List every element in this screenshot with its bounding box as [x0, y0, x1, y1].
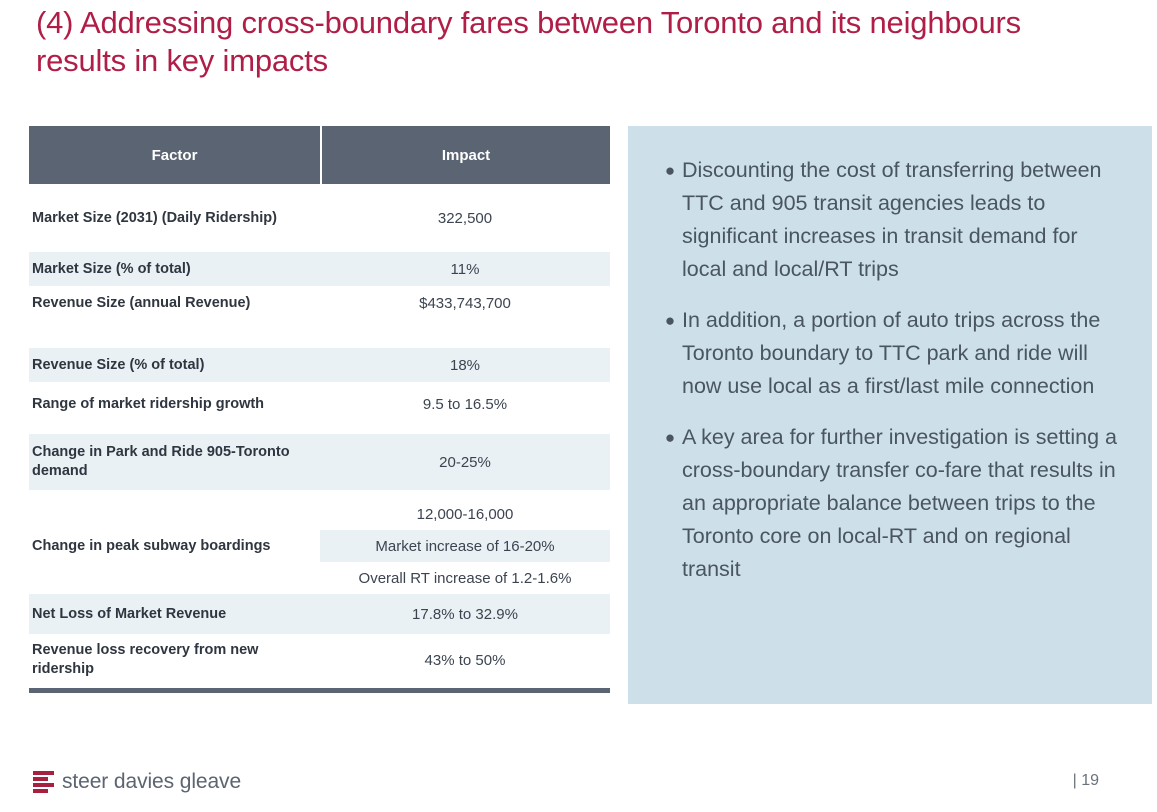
table-row: Change in Park and Ride 905-Toronto dema…: [29, 434, 610, 490]
brand-logo: steer davies gleave: [33, 770, 241, 794]
list-item: ● In addition, a portion of auto trips a…: [658, 304, 1118, 403]
bullet-dot-icon: ●: [658, 154, 682, 286]
cell-factor: Range of market ridership growth: [29, 395, 320, 414]
row-spacer: [29, 320, 610, 348]
cell-impact: 18%: [320, 356, 610, 375]
logo-wordmark: steer davies gleave: [62, 770, 241, 794]
cell-impact: 11%: [320, 260, 610, 279]
cell-factor: Revenue loss recovery from new ridership: [29, 641, 320, 679]
cell-impact: 20-25%: [320, 453, 610, 472]
cell-factor: Change in peak subway boardings: [29, 537, 320, 556]
impact-line: Market increase of 16-20%: [320, 530, 610, 562]
table-row: Change in peak subway boardings 12,000-1…: [29, 498, 610, 594]
table-row: Revenue Size (% of total) 18%: [29, 348, 610, 382]
logo-bars-icon: [33, 771, 54, 793]
cell-impact: 322,500: [320, 209, 610, 228]
cell-factor: Revenue Size (% of total): [29, 356, 320, 375]
row-spacer: [29, 238, 610, 252]
table-row: Revenue loss recovery from new ridership…: [29, 634, 610, 686]
cell-factor: Market Size (2031) (Daily Ridership): [29, 209, 320, 228]
insights-panel: ● Discounting the cost of transferring b…: [628, 126, 1152, 704]
row-spacer: [29, 490, 610, 498]
list-item: ● A key area for further investigation i…: [658, 421, 1118, 586]
cell-factor: Revenue Size (annual Revenue): [29, 294, 320, 313]
table-header-row: Factor Impact: [29, 126, 610, 184]
bullet-text: In addition, a portion of auto trips acr…: [682, 304, 1118, 403]
page-number: | 19: [1073, 772, 1099, 790]
table-row: Market Size (% of total) 11%: [29, 252, 610, 286]
column-header-factor: Factor: [29, 126, 320, 184]
column-header-impact: Impact: [322, 126, 610, 184]
list-item: ● Discounting the cost of transferring b…: [658, 154, 1118, 286]
bullet-text: A key area for further investigation is …: [682, 421, 1118, 586]
cell-impact: 9.5 to 16.5%: [320, 395, 610, 414]
bullet-dot-icon: ●: [658, 421, 682, 586]
bullet-text: Discounting the cost of transferring bet…: [682, 154, 1118, 286]
cell-impact-multiline: 12,000-16,000 Market increase of 16-20% …: [320, 498, 610, 594]
table-body: Market Size (2031) (Daily Ridership) 322…: [29, 184, 610, 686]
cell-factor: Change in Park and Ride 905-Toronto dema…: [29, 443, 320, 481]
table-row: Revenue Size (annual Revenue) $433,743,7…: [29, 286, 610, 320]
cell-factor: Net Loss of Market Revenue: [29, 605, 320, 624]
impact-table: Factor Impact Market Size (2031) (Daily …: [29, 126, 610, 693]
cell-impact: 17.8% to 32.9%: [320, 605, 610, 624]
bullet-dot-icon: ●: [658, 304, 682, 403]
impact-line: Overall RT increase of 1.2-1.6%: [320, 562, 610, 594]
table-bottom-rule: [29, 688, 610, 693]
cell-impact: $433,743,700: [320, 294, 610, 313]
row-spacer: [29, 184, 610, 198]
row-spacer: [29, 426, 610, 434]
table-row: Net Loss of Market Revenue 17.8% to 32.9…: [29, 594, 610, 634]
impact-line: 12,000-16,000: [320, 498, 610, 530]
cell-factor: Market Size (% of total): [29, 260, 320, 279]
table-row: Market Size (2031) (Daily Ridership) 322…: [29, 198, 610, 238]
cell-impact: 43% to 50%: [320, 651, 610, 670]
page-title: (4) Addressing cross-boundary fares betw…: [36, 4, 1046, 80]
table-row: Range of market ridership growth 9.5 to …: [29, 382, 610, 426]
